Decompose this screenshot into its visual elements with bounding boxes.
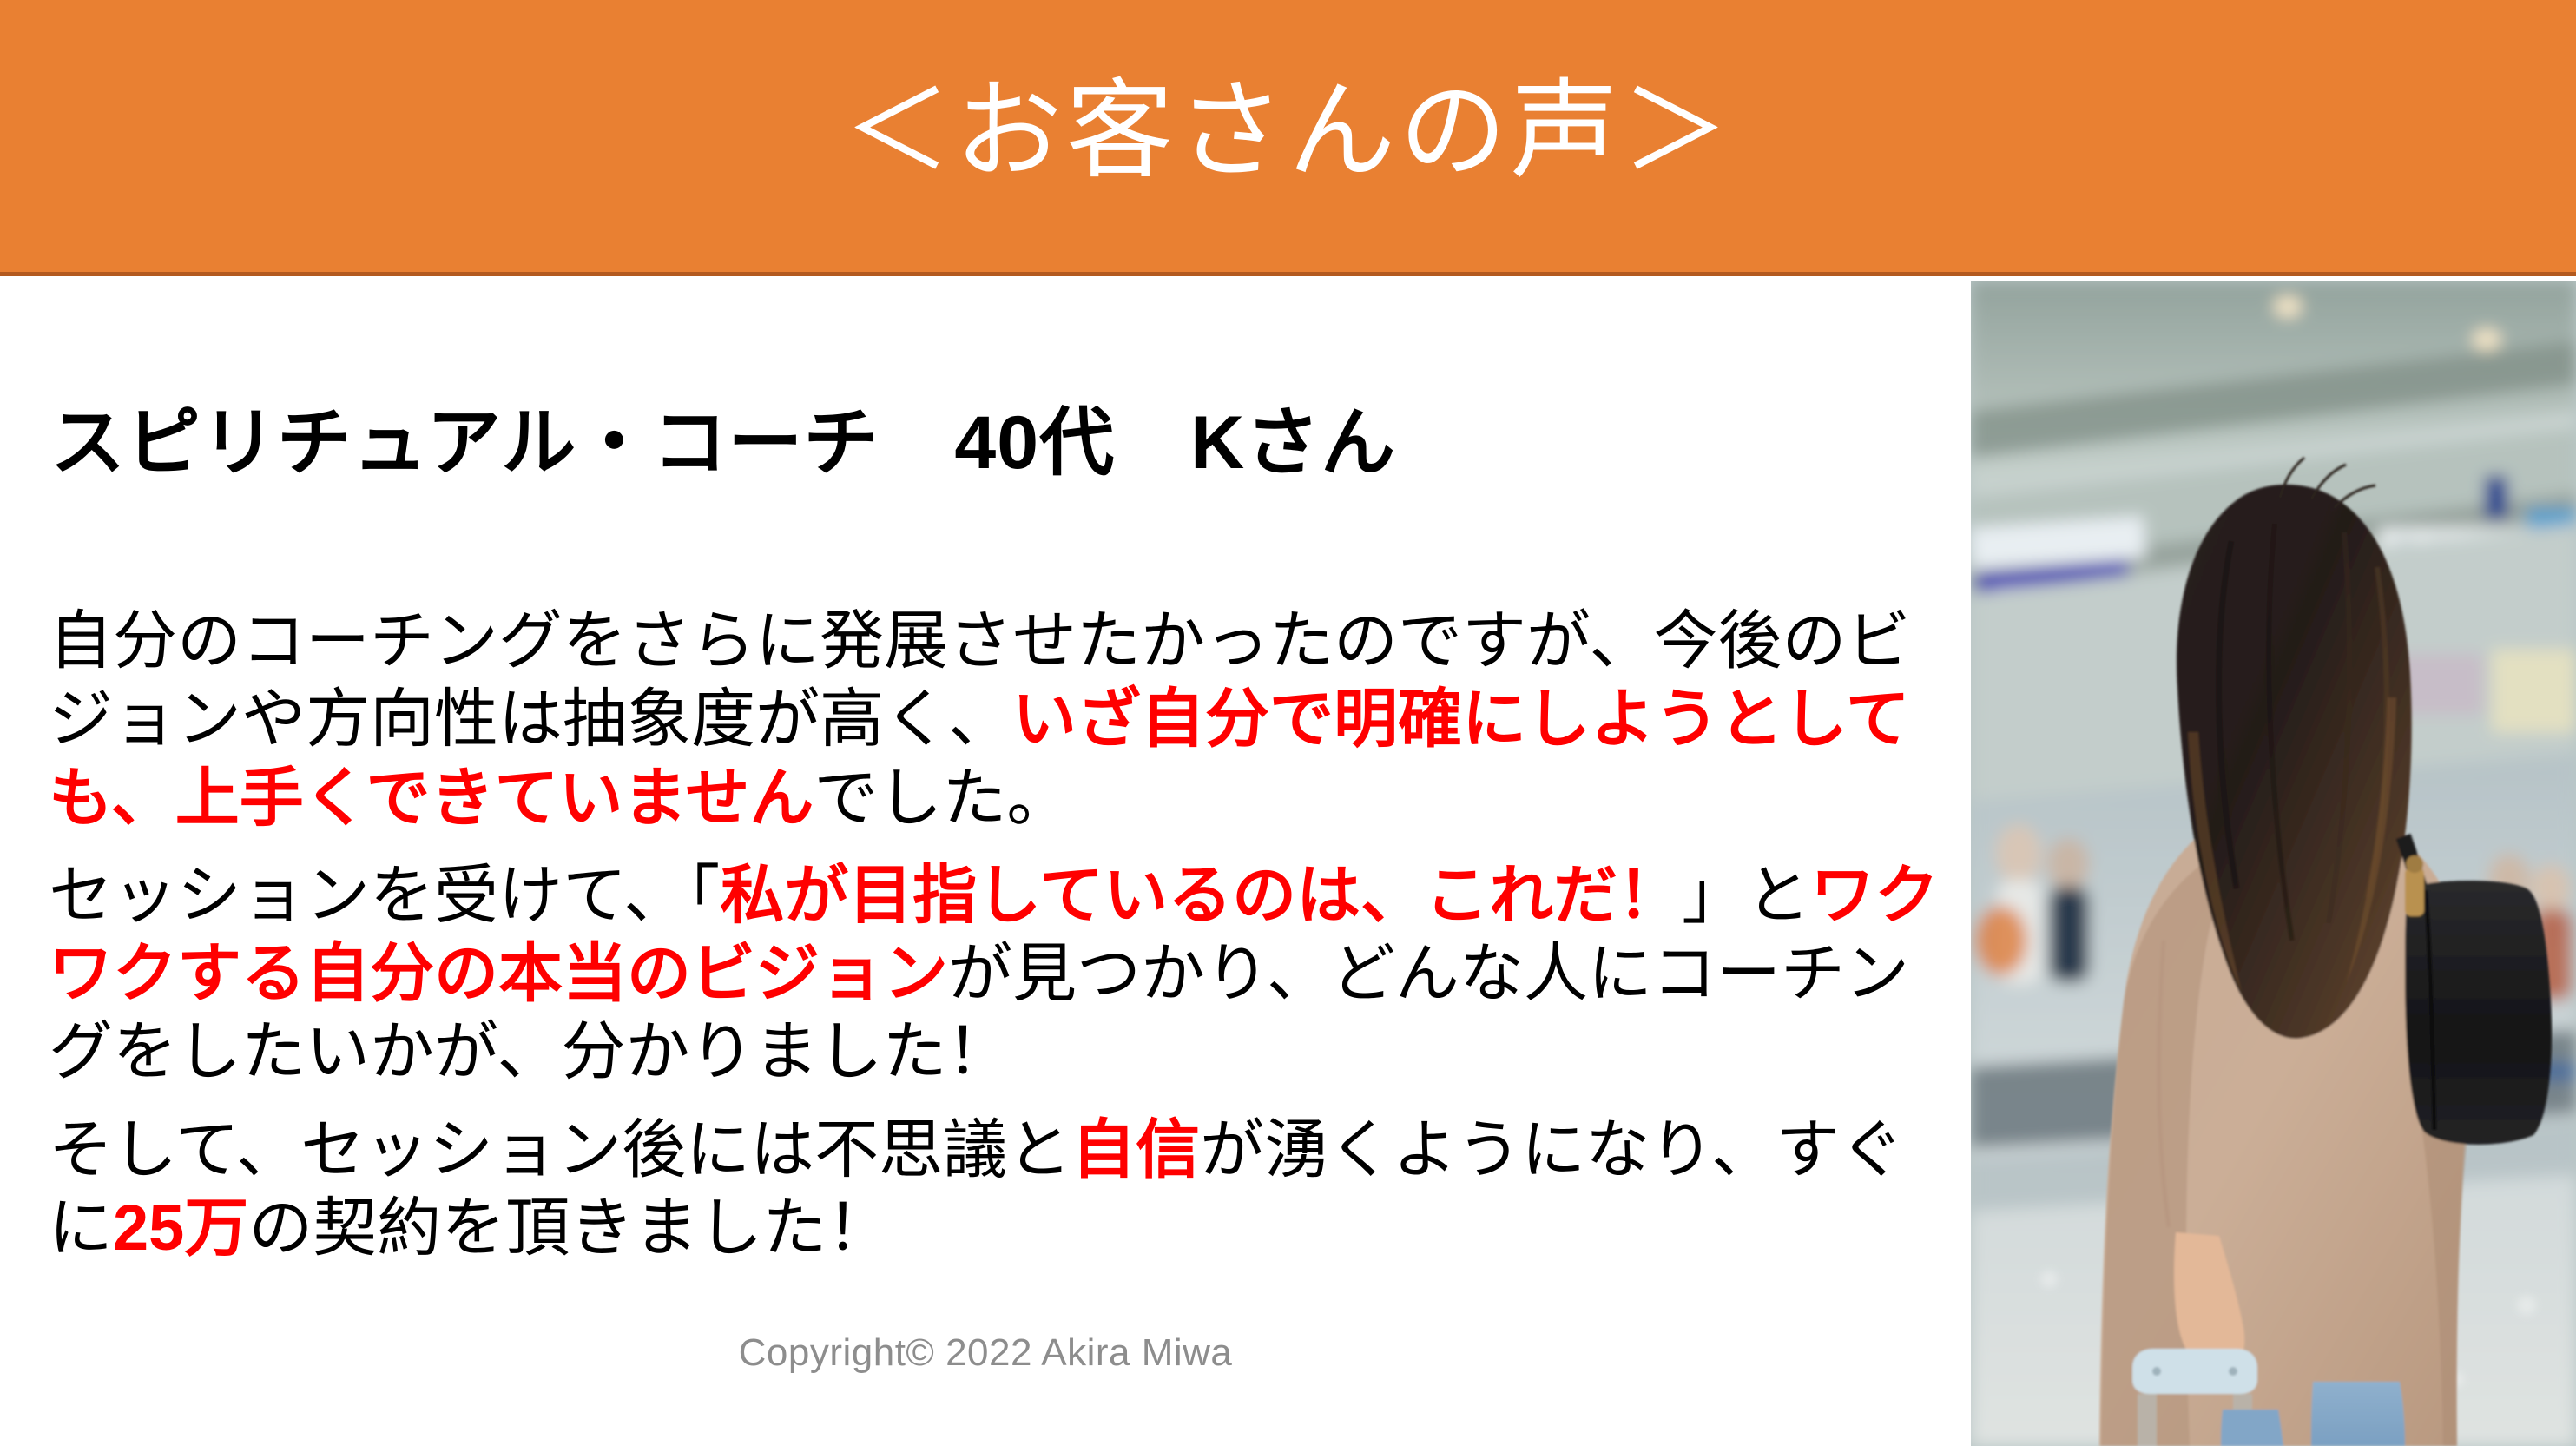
testimonial-heading: スピリチュアル・コーチ 40代 Kさん: [50, 402, 1396, 485]
testimonial-body: 自分のコーチングをさらに発展させたかったのですが、今後のビジョンや方向性は抽象度…: [49, 602, 1941, 1267]
airport-traveler-photo: [1971, 281, 2576, 1446]
airport-traveler-photo-image: [1971, 281, 2576, 1446]
copyright-footer: Copyright© 2022 Akira Miwa: [0, 1331, 1971, 1375]
content-column: スピリチュアル・コーチ 40代 Kさん 自分のコーチングをさらに発展させたかった…: [0, 281, 1971, 1446]
header-banner: ＜お客さんの声＞: [0, 0, 2576, 276]
body-text: でした。: [814, 762, 1071, 834]
body-text: そして、セッション後には不思議と: [49, 1113, 1071, 1185]
page-title: ＜お客さんの声＞: [843, 77, 1732, 185]
testimonial-paragraph: 自分のコーチングをさらに発展させたかったのですが、今後のビジョンや方向性は抽象度…: [49, 602, 1941, 837]
body-text: の契約を頂きました！: [248, 1192, 891, 1264]
body-text: 」と: [1682, 859, 1810, 931]
highlighted-text: 25万: [113, 1192, 248, 1264]
highlighted-text: 自信: [1071, 1113, 1200, 1185]
highlighted-text: 私が目指しているのは、これだ！: [720, 859, 1682, 931]
testimonial-paragraph: そして、セッション後には不思議と自信が湧くようになり、すぐに25万の契約を頂きま…: [49, 1111, 1941, 1268]
testimonial-paragraph: セッションを受けて、「私が目指しているのは、これだ！」とワクワクする自分の本当の…: [49, 856, 1941, 1092]
body-text: セッションを受けて、「: [49, 859, 720, 931]
